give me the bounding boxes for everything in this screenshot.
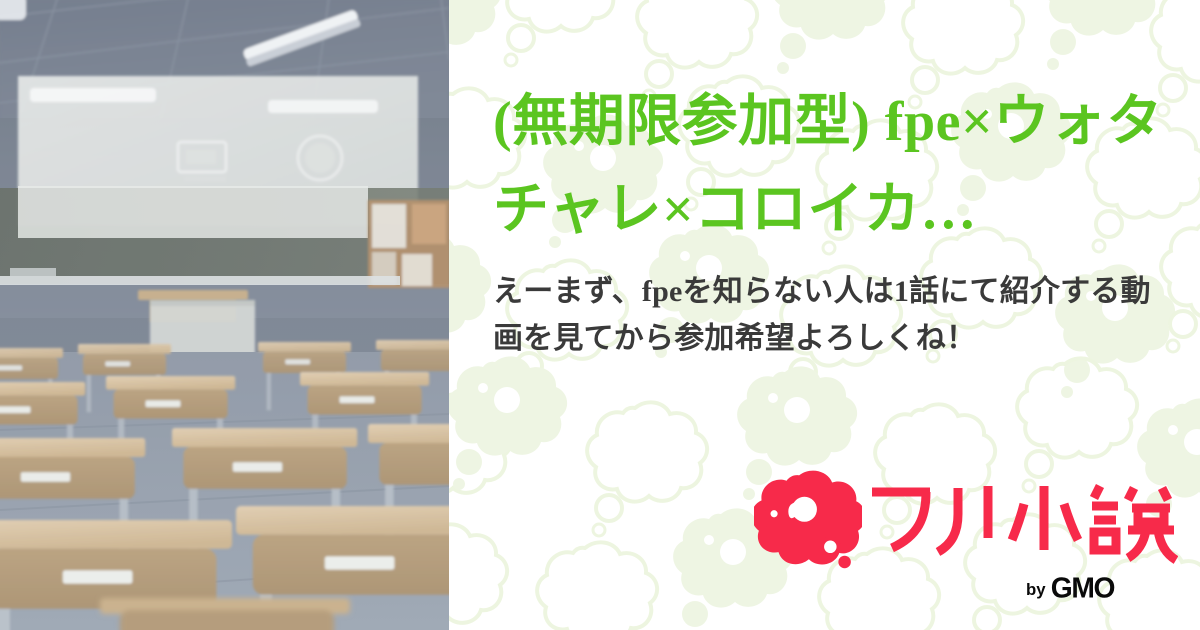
info-panel: (無期限参加型) fpe×ウォタチャレ×コロイカ… えーまず、fpeを知らない人… [449,0,1200,630]
classroom-photo-illustration [0,0,449,630]
byline-brand-text: GMO [1051,572,1115,602]
share-card: (無期限参加型) fpe×ウォタチャレ×コロイカ… えーまず、fpeを知らない人… [0,0,1200,630]
brand-logo: by GMO [754,470,1174,610]
thought-bubble-cloud-icon [754,470,862,570]
novel-description: えーまず、fpeを知らない人は1話にて紹介する動画を見てから参加希望よろしくね！ [493,268,1159,362]
cover-image [0,0,449,630]
logo-lockup [754,470,1178,570]
by-gmo-logo: by GMO [1026,572,1160,602]
by-gmo-byline: by GMO [1026,572,1160,602]
novel-title: (無期限参加型) fpe×ウォタチャレ×コロイカ… [493,78,1165,254]
logo-wordmark-purishousetsu [866,474,1178,566]
byline-prefix-text: by [1026,580,1046,599]
